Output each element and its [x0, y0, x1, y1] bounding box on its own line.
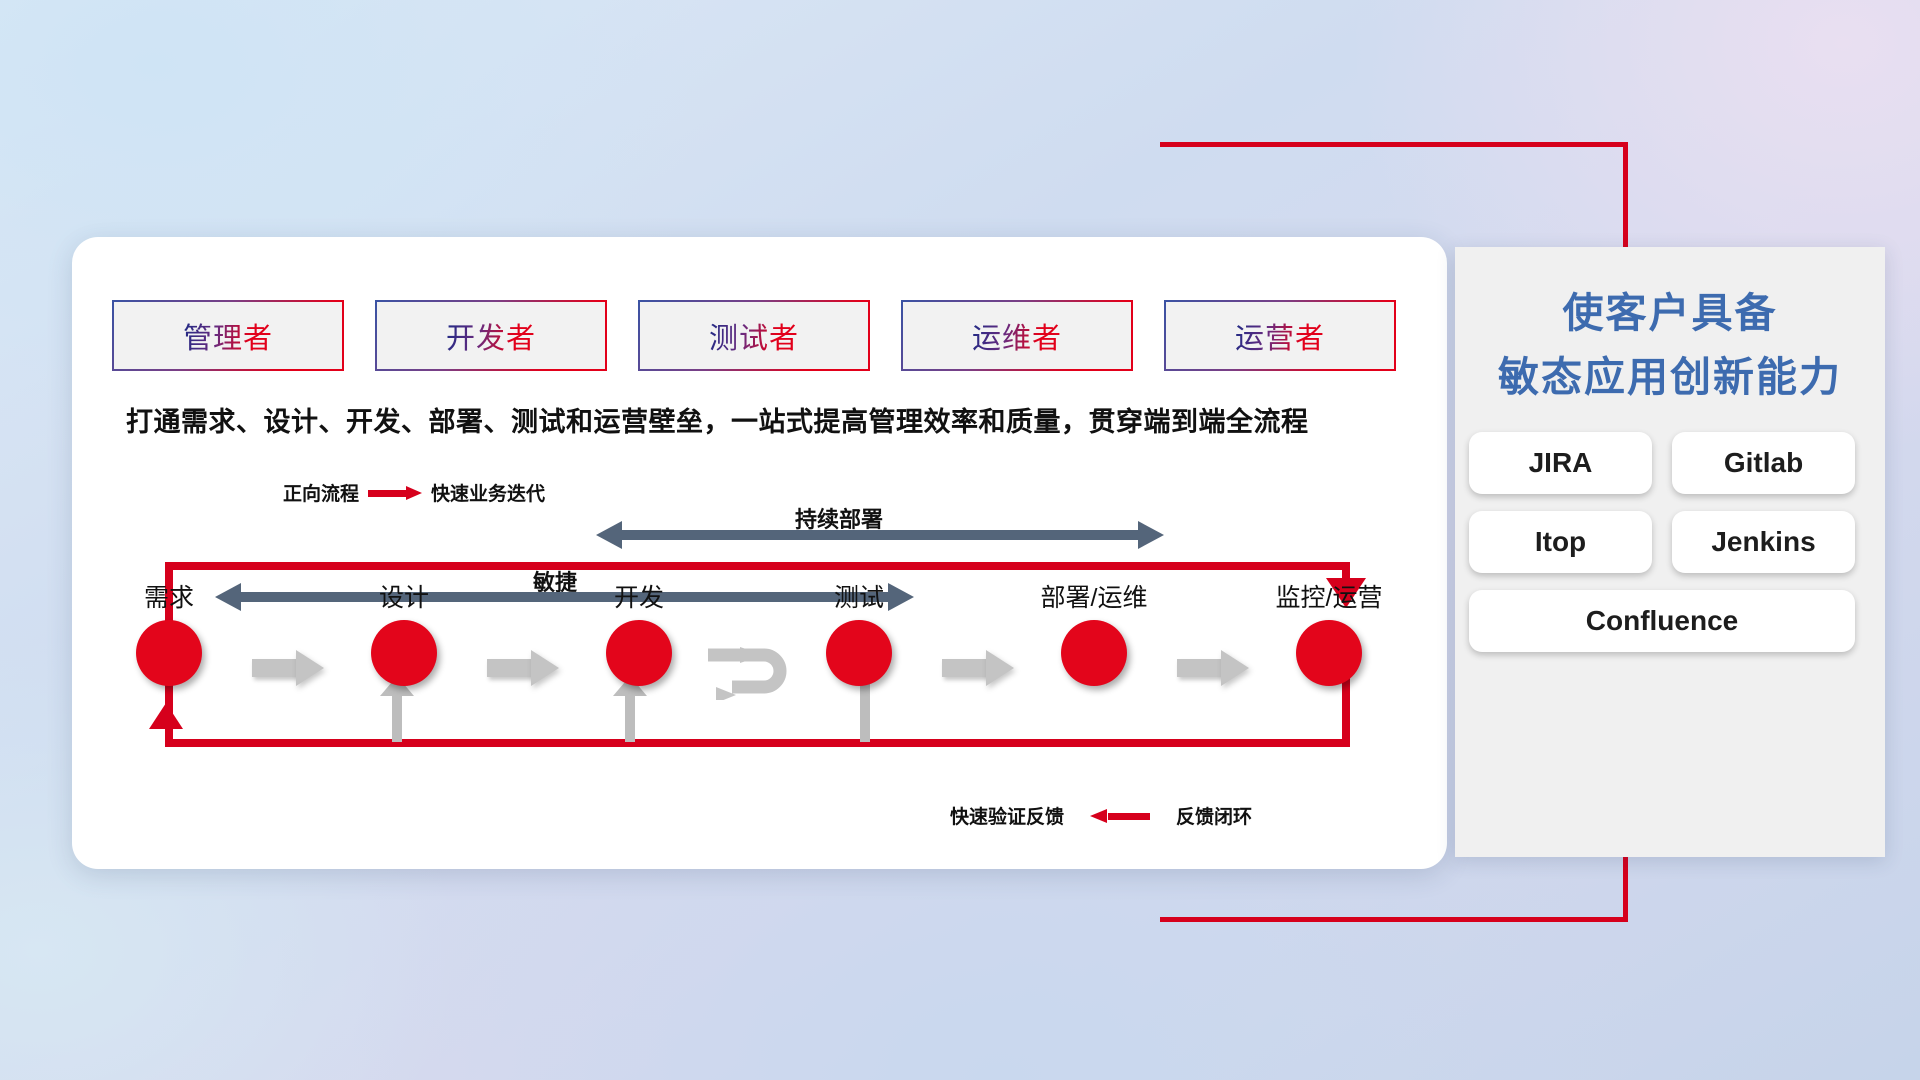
- stage-dot: [1296, 620, 1362, 686]
- fast-iteration-label: 快速业务迭代: [431, 479, 545, 506]
- stage-label: 测试: [834, 578, 884, 614]
- tool-chip-itop[interactable]: Itop: [1469, 511, 1652, 573]
- role-box-tester[interactable]: 测试者: [638, 300, 870, 371]
- role-label: 测试者: [709, 315, 799, 357]
- stage-design[interactable]: 设计: [367, 620, 441, 686]
- stage-label: 需求: [144, 578, 194, 614]
- flow-arrow-icon: [1177, 650, 1249, 686]
- flow-arrow-icon: [487, 650, 559, 686]
- stage-monitor-operations[interactable]: 监控/运营: [1292, 620, 1366, 686]
- description-text: 打通需求、设计、开发、部署、测试和运营壁垒，一站式提高管理效率和质量，贯穿端到端…: [126, 400, 1426, 439]
- stage-testing[interactable]: 测试: [822, 620, 896, 686]
- panel-headline-line2: 敏态应用创新能力: [1455, 343, 1885, 403]
- stage-dot: [1061, 620, 1127, 686]
- role-label: 开发者: [446, 315, 536, 357]
- forward-flow-legend: 正向流程 快速业务迭代: [283, 479, 545, 506]
- red-arrow-right-icon: [368, 486, 422, 500]
- tool-chip-gitlab[interactable]: Gitlab: [1672, 432, 1855, 494]
- stage-dot: [606, 620, 672, 686]
- tool-chip-grid: JIRA Gitlab Itop Jenkins Confluence: [1469, 432, 1871, 652]
- rework-loop-arrow-icon: [702, 638, 794, 700]
- stage-label: 开发: [614, 578, 664, 614]
- stage-development[interactable]: 开发: [602, 620, 676, 686]
- tool-chip-confluence[interactable]: Confluence: [1469, 590, 1855, 652]
- stage-label: 监控/运营: [1276, 578, 1383, 614]
- fast-verify-feedback-label: 快速验证反馈: [950, 802, 1064, 829]
- tool-chip-jira[interactable]: JIRA: [1469, 432, 1652, 494]
- stage-dot: [136, 620, 202, 686]
- stage-label: 部署/运维: [1041, 578, 1148, 614]
- red-arrow-left-icon: [1090, 809, 1150, 823]
- stage-label: 设计: [379, 578, 429, 614]
- role-label: 管理者: [183, 315, 273, 357]
- flow-arrow-icon: [252, 650, 324, 686]
- role-box-row: 管理者 开发者 测试者 运维者 运营者: [112, 300, 1396, 371]
- stage-deploy-ops[interactable]: 部署/运维: [1057, 620, 1131, 686]
- stage-dot: [371, 620, 437, 686]
- role-label: 运营者: [1235, 315, 1325, 357]
- value-proposition-panel: 使客户具备 敏态应用创新能力 JIRA Gitlab Itop Jenkins …: [1455, 247, 1885, 857]
- role-box-operations[interactable]: 运营者: [1164, 300, 1396, 371]
- role-label: 运维者: [972, 315, 1062, 357]
- devops-pipeline: 需求 设计 开发 测试 部署/运维 监控/运营: [112, 620, 1412, 730]
- stage-dot: [826, 620, 892, 686]
- stage-requirements[interactable]: 需求: [132, 620, 206, 686]
- feedback-closed-loop-label: 反馈闭环: [1176, 802, 1252, 829]
- feedback-loop-legend: 快速验证反馈 反馈闭环: [950, 802, 1252, 829]
- panel-headline-line1: 使客户具备: [1455, 279, 1885, 339]
- role-box-manager[interactable]: 管理者: [112, 300, 344, 371]
- forward-flow-label: 正向流程: [283, 479, 359, 506]
- tool-chip-jenkins[interactable]: Jenkins: [1672, 511, 1855, 573]
- role-box-developer[interactable]: 开发者: [375, 300, 607, 371]
- role-box-ops[interactable]: 运维者: [901, 300, 1133, 371]
- flow-arrow-icon: [942, 650, 1014, 686]
